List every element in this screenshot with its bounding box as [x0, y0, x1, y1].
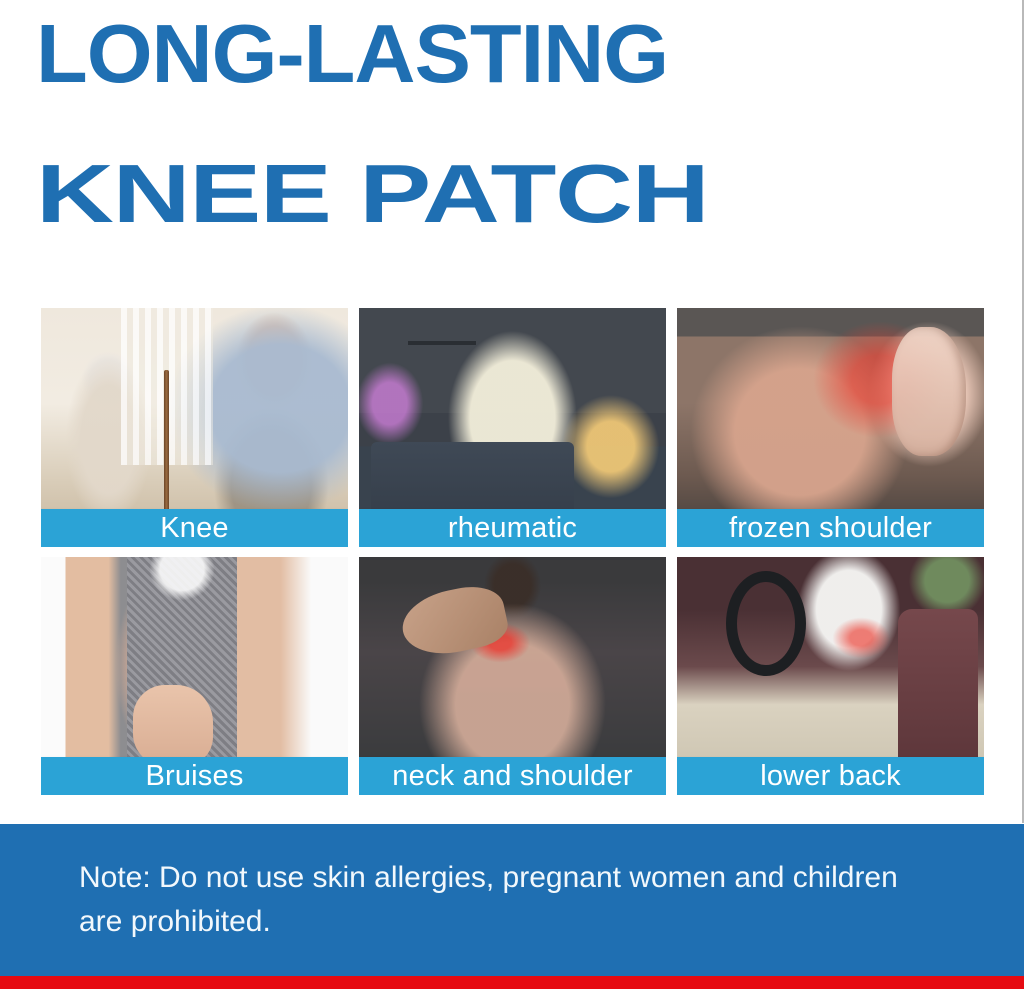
benefit-cell-frozen-shoulder: frozen shoulder — [677, 308, 984, 547]
warning-note-panel: Note: Do not use skin allergies, pregnan… — [0, 824, 1024, 976]
benefits-grid: Knee rheumatic frozen shoulder Bruises — [41, 308, 984, 795]
warning-note-text: Note: Do not use skin allergies, pregnan… — [79, 856, 949, 944]
holding-hand-detail — [133, 685, 213, 766]
benefit-caption-bruises: Bruises — [41, 757, 348, 795]
benefit-caption-frozen-shoulder: frozen shoulder — [677, 509, 984, 547]
headline-line-2: KNEE PATCH — [36, 146, 1024, 242]
benefit-cell-rheumatic: rheumatic — [359, 308, 666, 547]
benefit-caption-knee: Knee — [41, 509, 348, 547]
benefit-cell-neck-and-shoulder: neck and shoulder — [359, 557, 666, 796]
headline-line-1: LONG-LASTING — [36, 0, 1015, 102]
gripping-hand-detail — [892, 327, 966, 456]
raised-arm-detail — [397, 580, 512, 662]
page-title: LONG-LASTING KNEE PATCH — [36, 0, 996, 242]
wall-shelf-detail — [408, 341, 476, 345]
benefit-cell-knee: Knee — [41, 308, 348, 547]
benefit-caption-lower-back: lower back — [677, 757, 984, 795]
benefit-caption-rheumatic: rheumatic — [359, 509, 666, 547]
product-infographic-poster: LONG-LASTING KNEE PATCH Knee rheumatic f… — [0, 0, 1024, 989]
car-seat-detail — [898, 609, 978, 776]
footer-accent-bar — [0, 976, 1024, 989]
walking-cane-detail — [164, 370, 169, 523]
benefit-cell-bruises: Bruises — [41, 557, 348, 796]
steering-wheel-detail — [726, 571, 806, 676]
benefit-caption-neck-and-shoulder: neck and shoulder — [359, 757, 666, 795]
benefit-cell-lower-back: lower back — [677, 557, 984, 796]
